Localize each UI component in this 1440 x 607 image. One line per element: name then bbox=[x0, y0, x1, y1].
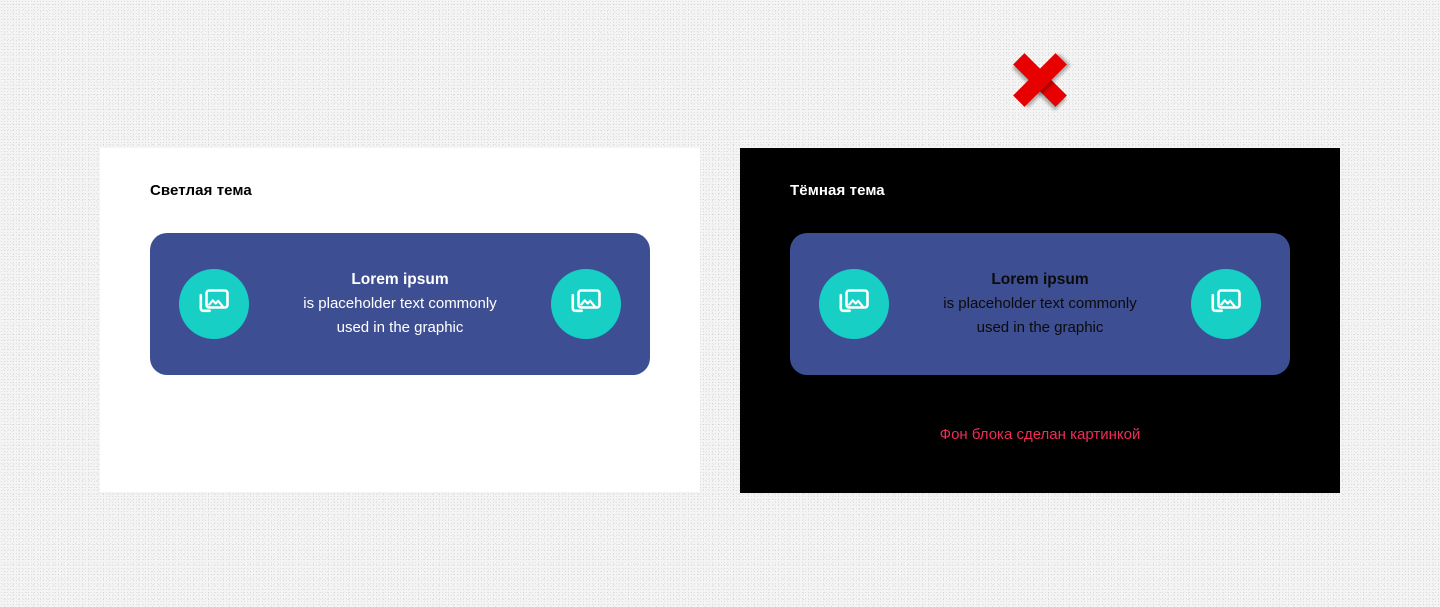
red-cross-mark-icon bbox=[1012, 51, 1068, 109]
light-theme-title: Светлая тема bbox=[150, 182, 252, 199]
image-stack-icon-left[interactable] bbox=[819, 269, 889, 339]
banner-headline: Lorem ipsum bbox=[895, 268, 1185, 292]
light-theme-banner: Lorem ipsum is placeholder text commonly… bbox=[150, 233, 650, 375]
light-theme-card: Светлая тема Lorem ipsum is placeholder … bbox=[100, 148, 700, 492]
comparison-stage: Светлая тема Lorem ipsum is placeholder … bbox=[0, 0, 1440, 607]
banner-line-2: is placeholder text commonly bbox=[255, 292, 545, 316]
dark-theme-banner: Lorem ipsum is placeholder text commonly… bbox=[790, 233, 1290, 375]
dark-theme-banner-text: Lorem ipsum is placeholder text commonly… bbox=[889, 268, 1191, 340]
image-stack-icon-right[interactable] bbox=[551, 269, 621, 339]
dark-theme-card: Тёмная тема Lorem ipsum is placeholder t… bbox=[740, 148, 1340, 493]
background-image-note: Фон блока сделан картинкой bbox=[740, 426, 1340, 443]
image-stack-icon-left[interactable] bbox=[179, 269, 249, 339]
banner-line-3: used in the graphic bbox=[895, 316, 1185, 340]
banner-line-3: used in the graphic bbox=[255, 316, 545, 340]
banner-line-2: is placeholder text commonly bbox=[895, 292, 1185, 316]
banner-headline: Lorem ipsum bbox=[255, 268, 545, 292]
light-theme-banner-text: Lorem ipsum is placeholder text commonly… bbox=[249, 268, 551, 340]
image-stack-icon-right[interactable] bbox=[1191, 269, 1261, 339]
dark-theme-title: Тёмная тема bbox=[790, 182, 885, 199]
